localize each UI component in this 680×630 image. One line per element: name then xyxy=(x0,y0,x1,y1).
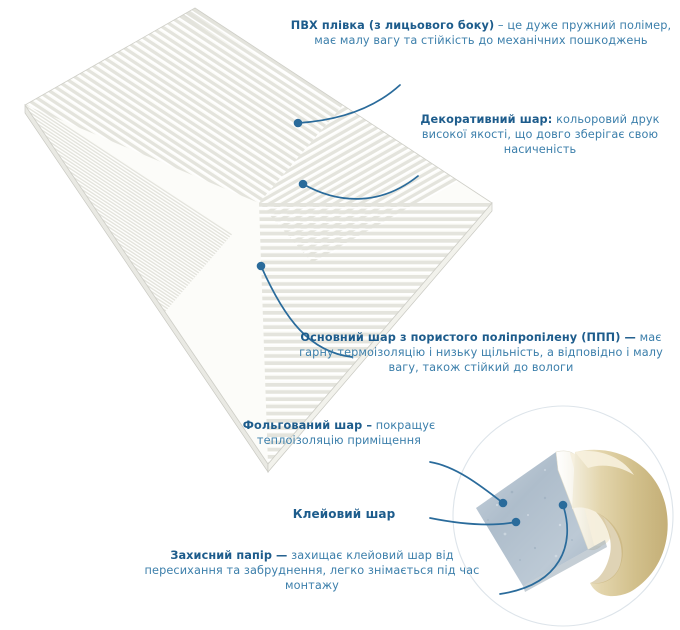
callout-core-layer: Основний шар з пористого поліпропілену (… xyxy=(286,330,676,375)
callout-protective-paper-title: Захисний папір — xyxy=(170,549,287,562)
callout-core-layer-title: Основний шар з пористого поліпропілену (… xyxy=(300,331,636,344)
callout-foil-layer: Фольгований шар – покращує теплоізоляцію… xyxy=(228,418,450,448)
dot-core xyxy=(257,262,266,271)
callout-decorative-layer: Декоративний шар: кольоровий друк високо… xyxy=(404,112,676,157)
dot-paper xyxy=(559,501,568,510)
callout-pvc-film-dash: – xyxy=(494,19,507,32)
callout-pvc-film-title: ПВХ плівка (з лицьового боку) xyxy=(291,19,494,32)
dot-pvc-film xyxy=(294,119,303,128)
callout-protective-paper: Захисний папір — захищає клейовий шар ві… xyxy=(140,548,484,593)
callout-pvc-film: ПВХ плівка (з лицьового боку) – це дуже … xyxy=(286,18,676,48)
diagram-artwork xyxy=(0,0,680,630)
callout-decorative-layer-title: Декоративний шар: xyxy=(420,113,552,126)
callout-adhesive-layer: Клейовий шар xyxy=(238,506,450,522)
dot-foil xyxy=(499,499,508,508)
panel-layers-infographic: ПВХ плівка (з лицьового боку) – це дуже … xyxy=(0,0,680,630)
corner-detail-inset xyxy=(453,406,673,626)
dot-decorative xyxy=(299,180,308,189)
dot-adhesive xyxy=(512,518,521,527)
callout-foil-layer-title: Фольгований шар – xyxy=(243,419,372,432)
callout-adhesive-layer-title: Клейовий шар xyxy=(293,507,396,521)
